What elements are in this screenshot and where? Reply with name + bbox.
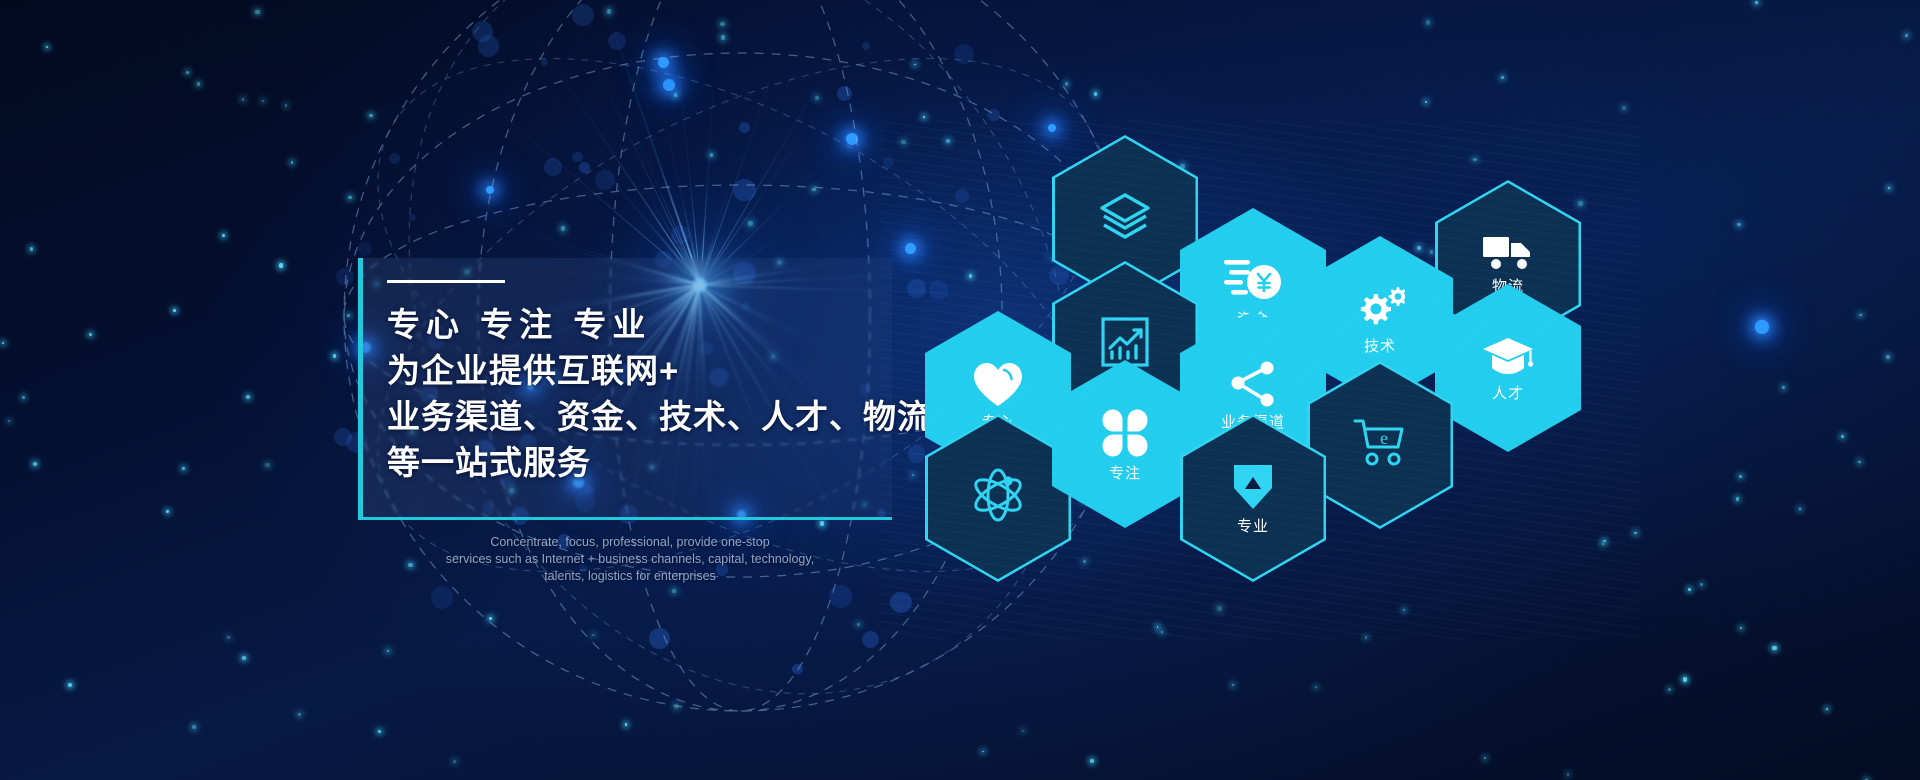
share-network-icon [1228, 360, 1278, 408]
hex-focus-clover[interactable]: 专注 [1052, 360, 1198, 528]
hex-professional[interactable]: 专业 [1180, 414, 1326, 582]
layers-icon [1097, 191, 1153, 241]
hex-label: 专注 [1109, 466, 1141, 481]
hex-label: 人才 [1492, 386, 1524, 401]
hex-talent[interactable]: 人才 [1435, 284, 1581, 452]
shopping-cart-e-icon: e [1352, 417, 1408, 467]
diamond-gem-icon [1230, 462, 1276, 512]
hex-ecart[interactable]: e [1307, 361, 1453, 529]
banner-stage: 专心 专注 专业 为企业提供互联网+ 业务渠道、资金、技术、人才、物流 等一站式… [0, 0, 1920, 780]
truck-icon [1482, 234, 1534, 272]
hex-atom[interactable] [925, 414, 1071, 582]
atom-icon [970, 468, 1026, 522]
clover-icon [1099, 407, 1151, 459]
hex-label: 专业 [1237, 519, 1269, 534]
graduation-cap-icon [1481, 335, 1535, 379]
hexagon-cluster: 资金 物流 [0, 0, 1920, 780]
hex-label: 技术 [1364, 339, 1396, 354]
heart-icon [971, 360, 1025, 408]
gears-icon [1355, 286, 1405, 332]
svg-text:e: e [1380, 428, 1388, 448]
yen-money-icon [1224, 257, 1282, 305]
